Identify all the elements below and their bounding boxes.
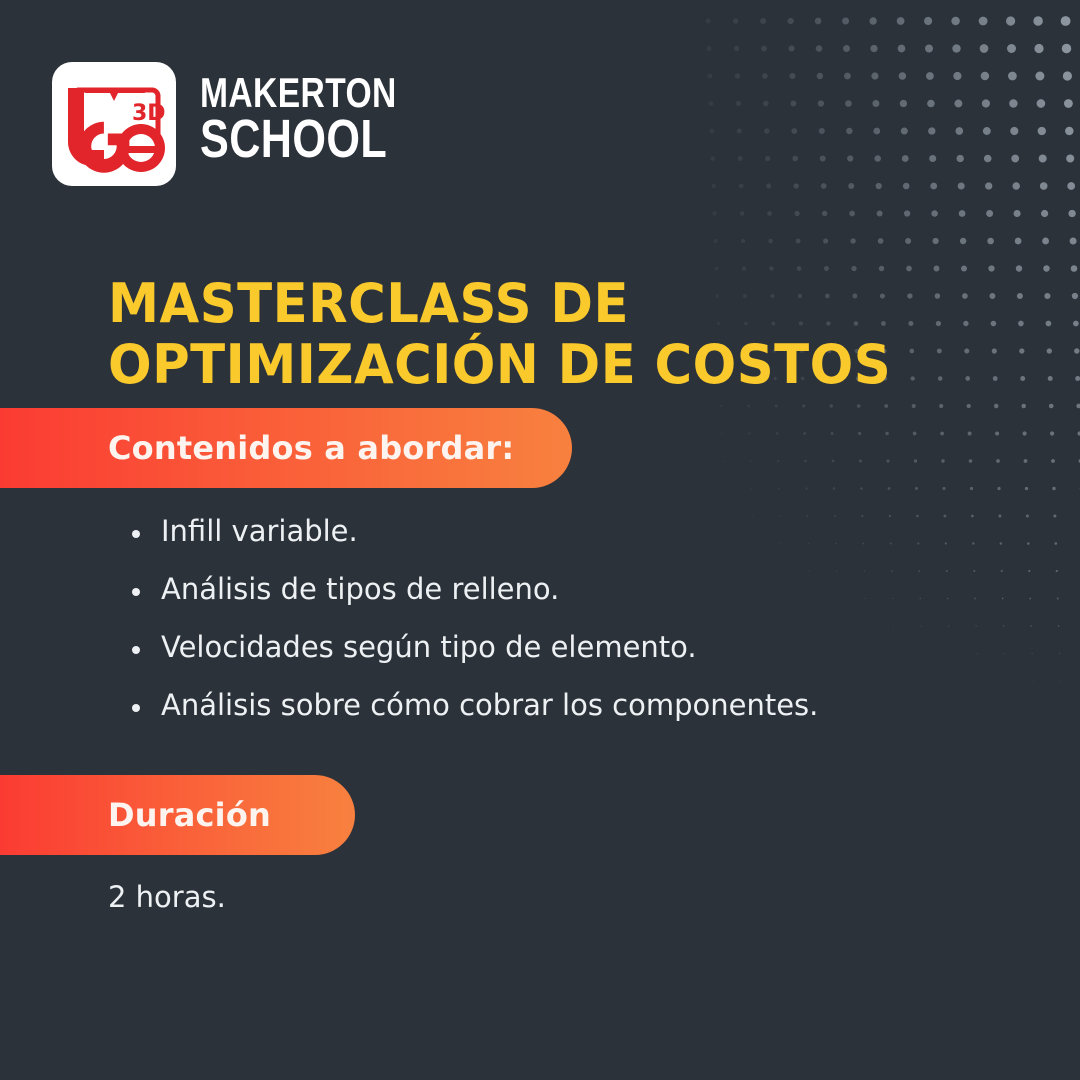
list-item-label: Infill variable. (161, 514, 358, 548)
contents-section-banner: Contenidos a abordar: (0, 408, 572, 488)
duration-banner-label: Duración (108, 796, 271, 834)
list-item: Velocidades según tipo de elemento. (128, 633, 818, 662)
lgs-3d-logo-mark: 3D (52, 62, 176, 186)
bullet-dot-icon (132, 646, 140, 654)
contents-list: Infill variable. Análisis de tipos de re… (128, 517, 818, 720)
bullet-dot-icon (132, 704, 140, 712)
contents-banner-label: Contenidos a abordar: (108, 429, 514, 467)
brand-wordmark: MAKERTON SCHOOL (200, 74, 446, 164)
poster-canvas: 3D MAKERTON SCHOOL MASTERCLASS DE OPTIMI… (0, 0, 1080, 1080)
halftone-dot-pattern (700, 0, 1080, 960)
list-item: Análisis de tipos de relleno. (128, 575, 818, 604)
list-item: Infill variable. (128, 517, 818, 546)
duration-value: 2 horas. (108, 880, 226, 914)
title-line-1: MASTERCLASS DE (108, 272, 629, 335)
duration-section-banner: Duración (0, 775, 355, 855)
brand-line-school: SCHOOL (200, 115, 397, 165)
list-item: Análisis sobre cómo cobrar los component… (128, 691, 818, 720)
list-item-label: Análisis de tipos de relleno. (161, 572, 559, 606)
title-line-2: OPTIMIZACIÓN DE COSTOS (108, 333, 891, 396)
logo-3d-badge-text: 3D (132, 101, 166, 126)
brand-logo: 3D MAKERTON SCHOOL (52, 62, 446, 186)
bullet-dot-icon (132, 588, 140, 596)
list-item-label: Velocidades según tipo de elemento. (161, 630, 697, 664)
bullet-dot-icon (132, 530, 140, 538)
list-item-label: Análisis sobre cómo cobrar los component… (161, 688, 818, 722)
page-title: MASTERCLASS DE OPTIMIZACIÓN DE COSTOS (108, 274, 891, 395)
brand-line-makerton: MAKERTON (200, 74, 397, 113)
